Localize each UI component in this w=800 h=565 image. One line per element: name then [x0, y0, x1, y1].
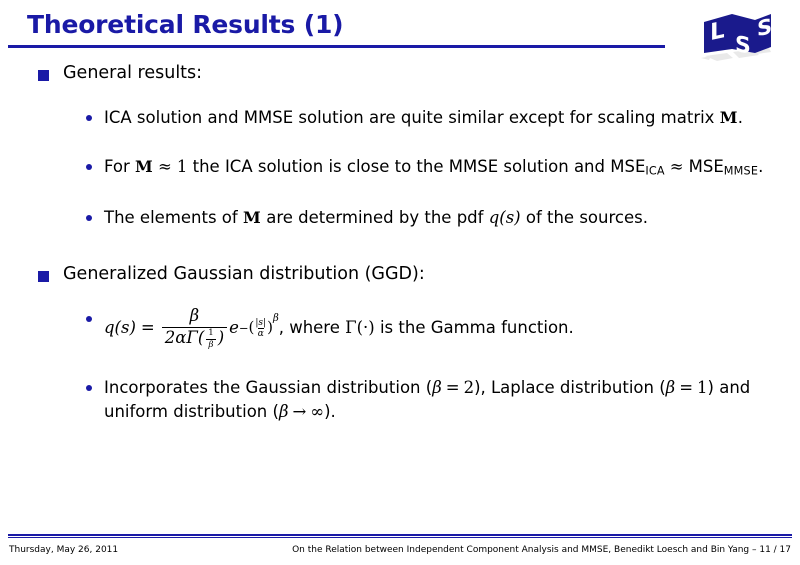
svg-text:L: L: [710, 16, 725, 46]
round-bullet-icon: [86, 215, 92, 221]
svg-text:S: S: [735, 31, 751, 59]
denominator-inner-fraction: 1β: [205, 329, 216, 351]
arrow-relation: →: [288, 402, 310, 421]
formula-trailing-tail: is the Gamma function.: [375, 318, 574, 337]
exponent-paren-open: (: [249, 318, 255, 336]
bullet-ica-mmse-similar: ICA solution and MMSE solution are quite…: [0, 106, 800, 130]
round-bullet-icon: [86, 316, 92, 322]
bullet-text-tail: ).: [324, 402, 336, 421]
exponent-sign: −: [239, 321, 249, 335]
bullet-incorporates-distributions: Incorporates the Gaussian distribution (…: [0, 376, 800, 423]
footer-divider-bottom: [8, 537, 792, 538]
denominator-prefix: 2αΓ(: [165, 328, 205, 347]
formula-fraction: β 2αΓ(1β): [162, 307, 227, 350]
round-bullet-icon: [86, 385, 92, 391]
spacer: [0, 88, 800, 106]
bullet-ggd-formula: q(s) = β 2αΓ(1β) e −(|s|α)β , where Γ(·)…: [0, 307, 800, 350]
formula-lhs: q(s): [104, 320, 136, 337]
approx-relation: ≈: [665, 157, 689, 176]
page-title: Theoretical Results (1): [27, 10, 343, 39]
spacer: [0, 229, 800, 263]
beta-symbol: β: [666, 378, 676, 397]
inner-numerator: 1: [205, 329, 216, 340]
inner-denominator: β: [206, 339, 217, 350]
bullet-text-mid: are determined by the pdf: [261, 208, 489, 227]
slide-content: General results: ICA solution and MMSE s…: [0, 62, 800, 423]
section-heading-text: General results:: [63, 63, 202, 83]
bullet-text-mid: ), Laplace distribution (: [474, 378, 666, 397]
round-bullet-icon: [86, 164, 92, 170]
gamma-function-symbol: Γ(·): [345, 318, 375, 337]
formula-exponent: −(|s|α)β: [239, 318, 279, 340]
approx-relation: ≈: [153, 157, 177, 176]
bullet-text-tail: .: [738, 108, 743, 127]
bullet-text: For: [104, 157, 135, 176]
spacer: [0, 129, 800, 155]
exponent-inner-denominator: α: [258, 328, 264, 340]
exponent-inner-numerator: |s|: [255, 318, 266, 328]
lss-logo: L S S: [697, 6, 775, 68]
formula-exp-base: e: [229, 320, 239, 337]
beta-value: 1: [697, 378, 708, 397]
fraction-denominator: 2αΓ(1β): [162, 327, 227, 351]
formula-equals: =: [136, 320, 160, 337]
equals-relation: =: [442, 378, 464, 397]
footer-reference: On the Relation between Independent Comp…: [292, 545, 791, 555]
title-divider: [8, 45, 665, 48]
subscript-mmse: MMSE: [724, 165, 758, 178]
section-heading-general-results: General results:: [0, 62, 800, 86]
bullet-text-mid: the ICA solution is close to the MMSE so…: [187, 157, 645, 176]
number-one: 1: [177, 157, 188, 176]
footer-divider-top: [8, 534, 792, 536]
square-bullet-icon: [38, 70, 49, 81]
denominator-suffix: ): [218, 328, 224, 347]
bullet-ica-close-to-mmse: For M≈1 the ICA solution is close to the…: [0, 155, 800, 179]
section-heading-text: Generalized Gaussian distribution (GGD):: [63, 264, 425, 284]
bullet-elements-of-m: The elements of M are determined by the …: [0, 206, 800, 230]
fraction-numerator: β: [187, 307, 203, 326]
bullet-text-tail: .: [758, 157, 763, 176]
pdf-symbol-q-of-s: q(s): [489, 208, 521, 227]
bullet-text-mse: MSE: [689, 157, 724, 176]
bullet-text: ICA solution and MMSE solution are quite…: [104, 108, 720, 127]
exponent-inner-fraction: |s|α: [255, 318, 266, 340]
beta-symbol: β: [432, 378, 442, 397]
matrix-symbol-m: M: [720, 108, 738, 127]
bullet-text: Incorporates the Gaussian distribution (: [104, 378, 432, 397]
square-bullet-icon: [38, 271, 49, 282]
spacer: [0, 180, 800, 206]
spacer: [0, 289, 800, 307]
subscript-ica: ICA: [645, 165, 664, 178]
bullet-text: The elements of: [104, 208, 243, 227]
matrix-symbol-m: M: [243, 208, 261, 227]
spacer: [0, 350, 800, 376]
equals-relation: =: [675, 378, 697, 397]
ggd-pdf-formula: q(s) = β 2αΓ(1β) e −(|s|α)β: [104, 307, 279, 350]
section-heading-ggd: Generalized Gaussian distribution (GGD):: [0, 263, 800, 287]
lss-logo-icon: L S S: [697, 6, 775, 68]
beta-value: 2: [464, 378, 475, 397]
svg-text:S: S: [757, 14, 772, 42]
bullet-text-tail: of the sources.: [521, 208, 648, 227]
exponent-power-beta: β: [273, 314, 279, 324]
matrix-symbol-m: M: [135, 157, 153, 176]
infinity-symbol: ∞: [310, 402, 324, 421]
round-bullet-icon: [86, 115, 92, 121]
footer-date: Thursday, May 26, 2011: [9, 545, 118, 555]
formula-trailing-text: , where: [279, 318, 345, 337]
